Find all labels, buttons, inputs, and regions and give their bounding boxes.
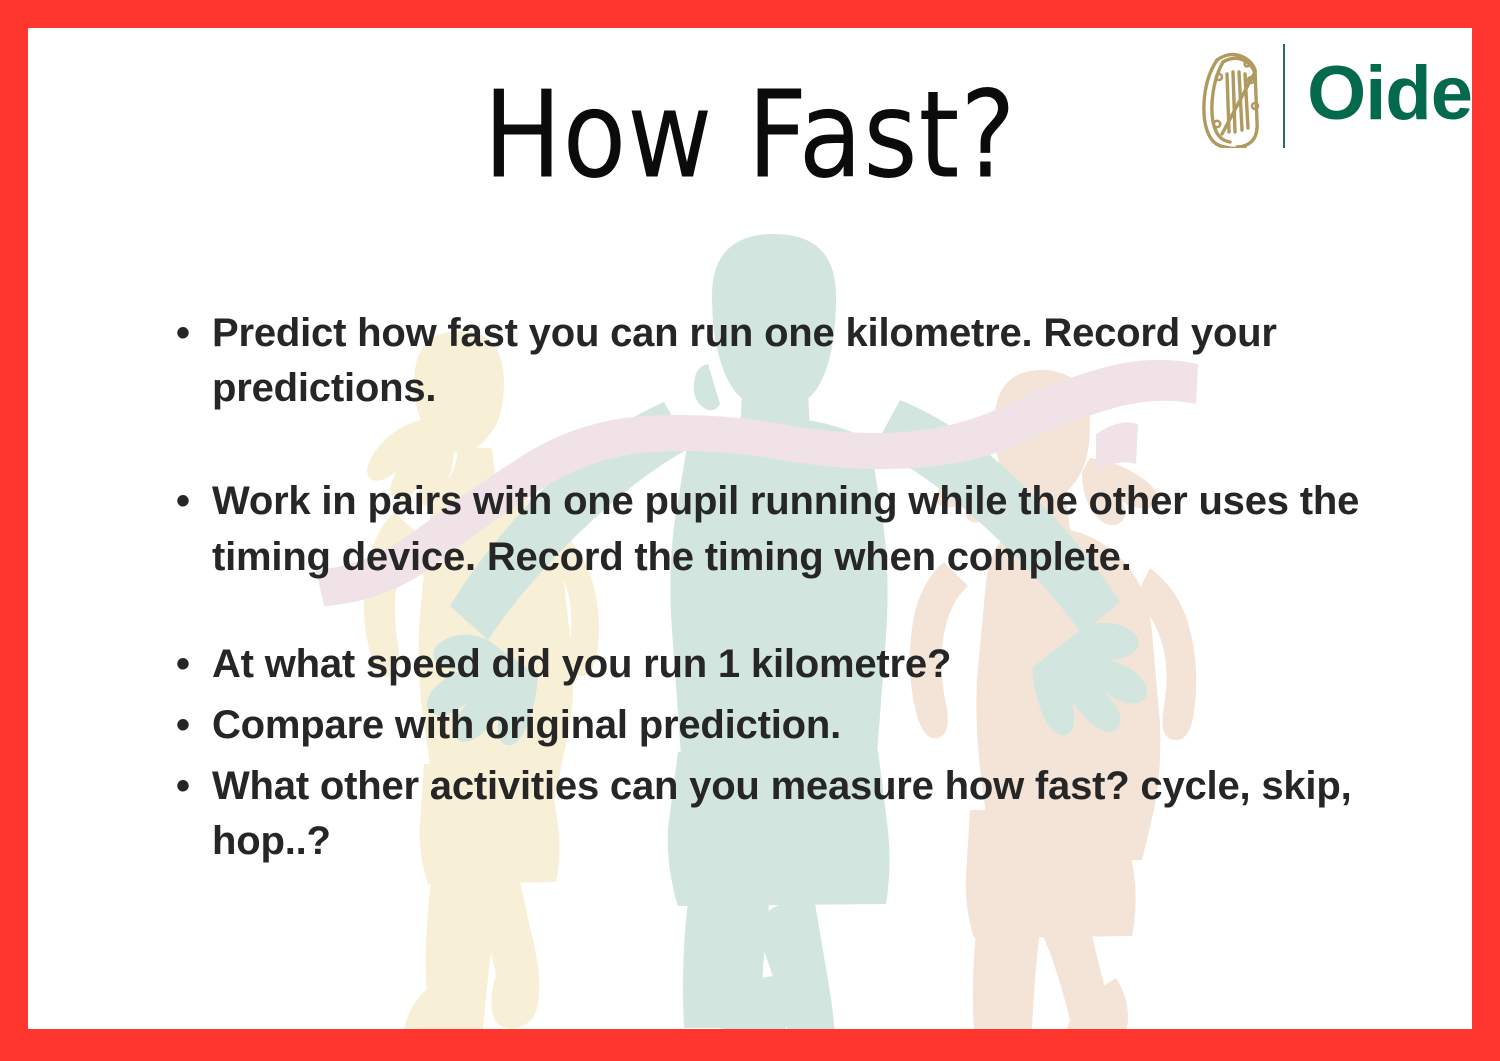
bullet-marker: • [154,637,212,692]
bullet-text: Work in pairs with one pupil running whi… [212,474,1454,584]
list-item: • Work in pairs with one pupil running w… [154,474,1454,584]
irish-harp-icon [1197,44,1269,148]
list-item: • What other activities can you measure … [154,759,1454,869]
bullet-text: Predict how fast you can run one kilomet… [212,306,1454,416]
spacer [154,416,1454,474]
bullet-text: Compare with original prediction. [212,698,1454,753]
bullet-list: • Predict how fast you can run one kilom… [154,306,1454,870]
list-item: • Compare with original prediction. [154,698,1454,753]
list-item: • At what speed did you run 1 kilometre? [154,637,1454,692]
oide-logo: Oide [1197,36,1472,156]
slide-root: How Fast? [0,0,1500,1061]
spacer [154,585,1454,637]
bullet-marker: • [154,306,212,361]
bullet-text: What other activities can you measure ho… [212,759,1454,869]
slide-canvas: How Fast? [28,28,1472,1029]
bullet-marker: • [154,698,212,753]
logo-divider [1283,44,1285,148]
oide-wordmark: Oide [1307,56,1472,132]
list-item: • Predict how fast you can run one kilom… [154,306,1454,416]
bullet-marker: • [154,759,212,814]
bullet-marker: • [154,474,212,529]
bullet-text: At what speed did you run 1 kilometre? [212,637,1454,692]
